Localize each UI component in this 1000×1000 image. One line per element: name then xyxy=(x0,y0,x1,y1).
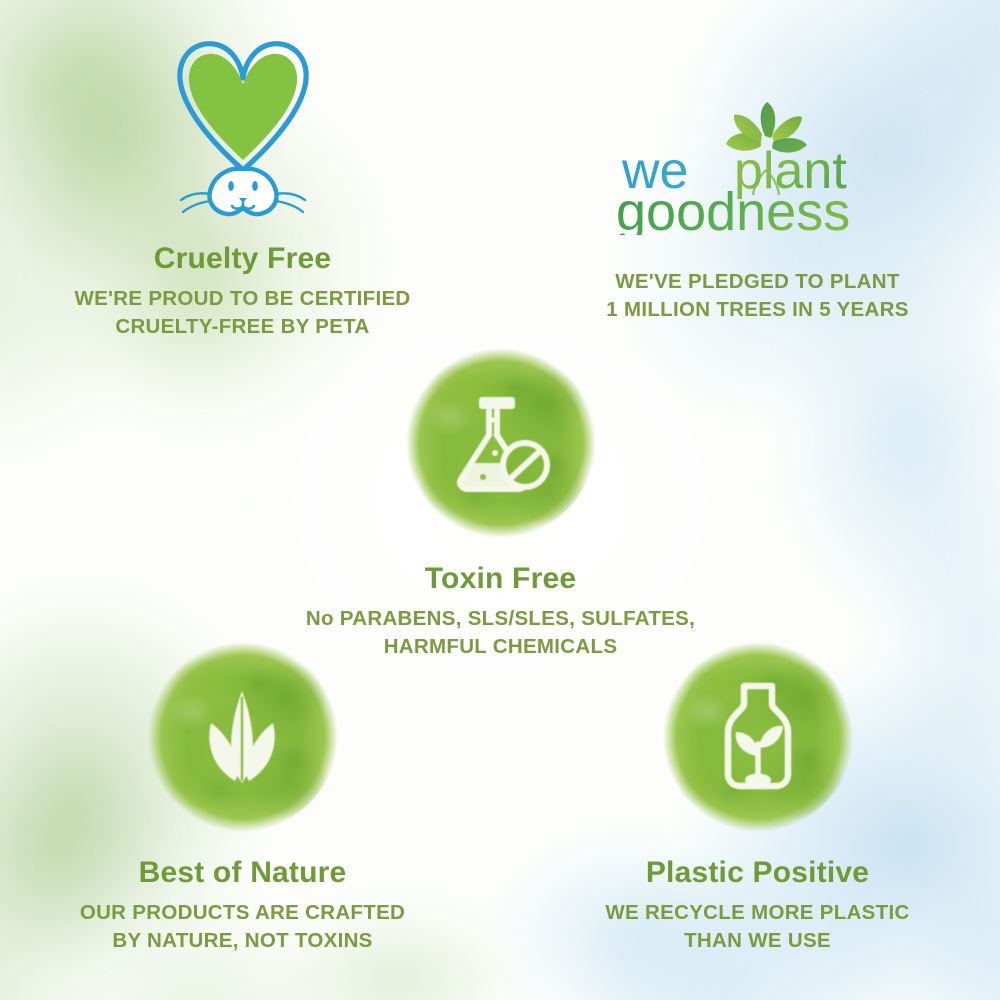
plastic-positive-icon-wrap xyxy=(530,642,985,832)
peta-bunny-heart-icon xyxy=(148,28,338,218)
feature-toxin-free: Toxin Free No PARABENS, SLS/SLES, SULFAT… xyxy=(273,348,728,660)
feature-plastic-positive: Plastic Positive WE RECYCLE MORE PLASTIC… xyxy=(530,642,985,954)
leaves-icon xyxy=(187,681,299,793)
flask-bubble-3 xyxy=(492,450,498,456)
bunny-left-eye xyxy=(228,181,234,191)
sprout-leaf-left xyxy=(735,732,757,756)
watercolor-green-blob xyxy=(148,642,338,832)
watercolor-green-blob xyxy=(663,642,853,832)
we-plant-goodness-logo-art: we plant goodness xyxy=(608,100,908,235)
feature-cruelty-free: Cruelty Free WE'RE PROUD TO BE CERTIFIED… xyxy=(15,28,470,340)
we-plant-goodness-logo: we plant goodness xyxy=(530,100,985,235)
cruelty-free-icon-wrap xyxy=(15,28,470,218)
logo-word-goodness: goodness xyxy=(616,182,850,235)
bunny-whisker-l1 xyxy=(181,193,210,200)
flask-cap xyxy=(479,397,515,409)
feature-title: Cruelty Free xyxy=(15,242,470,275)
bottle-sprout-icon xyxy=(702,678,814,796)
bunny-whisker-r2 xyxy=(276,201,303,212)
toxin-free-icon-wrap xyxy=(273,348,728,538)
bunny-whisker-l2 xyxy=(183,201,210,212)
feature-subtitle: WE RECYCLE MORE PLASTIC THAN WE USE xyxy=(530,899,985,954)
bunny-whisker-r1 xyxy=(276,193,305,200)
feature-title: Best of Nature xyxy=(15,856,470,889)
feature-subtitle: OUR PRODUCTS ARE CRAFTED BY NATURE, NOT … xyxy=(15,899,470,954)
infographic-canvas: Cruelty Free WE'RE PROUD TO BE CERTIFIED… xyxy=(0,0,1000,1000)
feature-subtitle: WE'VE PLEDGED TO PLANT 1 MILLION TREES I… xyxy=(530,268,985,323)
feature-subtitle: WE'RE PROUD TO BE CERTIFIED CRUELTY-FREE… xyxy=(15,285,470,340)
feature-we-plant-goodness: we plant goodness WE'VE PLEDGED TO PLANT… xyxy=(530,100,985,323)
sprout-soil xyxy=(745,774,771,787)
bunny-right-eye xyxy=(252,181,258,191)
flask-bubble-2 xyxy=(493,432,500,439)
feature-best-of-nature: Best of Nature OUR PRODUCTS ARE CRAFTED … xyxy=(15,642,470,954)
sprout-leaf-right xyxy=(759,726,783,748)
no-chemicals-flask-icon xyxy=(445,387,557,499)
watercolor-green-blob xyxy=(406,348,596,538)
feature-title: Plastic Positive xyxy=(530,856,985,889)
flask-bubble-1 xyxy=(490,417,495,422)
best-of-nature-icon-wrap xyxy=(15,642,470,832)
flask-bubble-4 xyxy=(480,474,486,480)
feature-title: Toxin Free xyxy=(273,562,728,595)
